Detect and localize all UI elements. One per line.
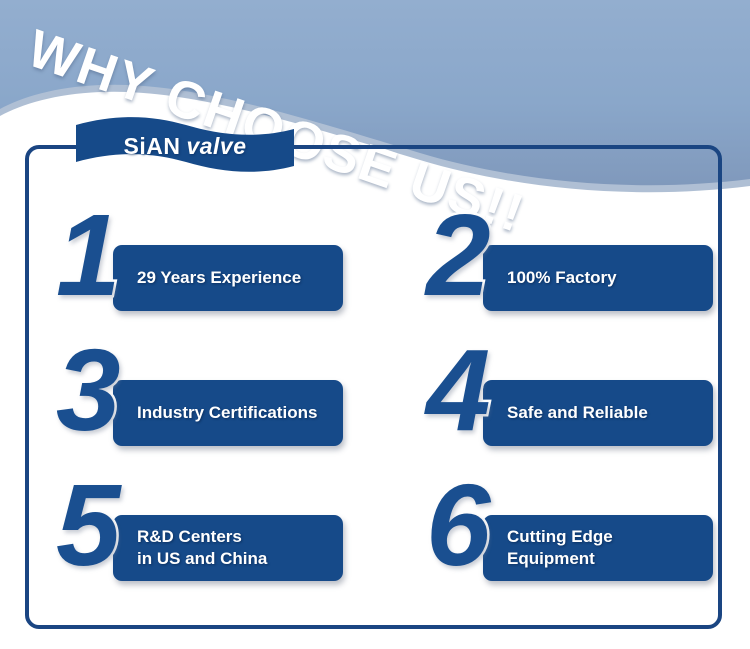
benefit-bar: Industry Certifications	[113, 380, 343, 446]
benefit-label: R&D Centers in US and China	[137, 526, 267, 570]
benefit-bar: 100% Factory	[483, 245, 713, 311]
benefit-bar: R&D Centers in US and China	[113, 515, 343, 581]
benefit-bar: Safe and Reliable	[483, 380, 713, 446]
list-item: Cutting Edge Equipment 6	[420, 470, 720, 580]
list-item: Industry Certifications 3	[50, 335, 350, 445]
list-item: R&D Centers in US and China 5	[50, 470, 350, 580]
benefit-label: Safe and Reliable	[507, 402, 648, 424]
why-choose-us-poster: WHY CHOOSE US!! SiANvalve 29 Years Exper…	[0, 0, 750, 649]
list-item: 29 Years Experience 1	[50, 200, 350, 310]
benefit-label: 100% Factory	[507, 267, 617, 289]
benefit-list: 29 Years Experience 1 100% Factory 2 Ind…	[0, 0, 750, 649]
benefit-bar: Cutting Edge Equipment	[483, 515, 713, 581]
benefit-label: Cutting Edge Equipment	[507, 526, 613, 570]
benefit-label: 29 Years Experience	[137, 267, 301, 289]
list-item: 100% Factory 2	[420, 200, 720, 310]
benefit-bar: 29 Years Experience	[113, 245, 343, 311]
list-item: Safe and Reliable 4	[420, 335, 720, 445]
benefit-label: Industry Certifications	[137, 402, 317, 424]
